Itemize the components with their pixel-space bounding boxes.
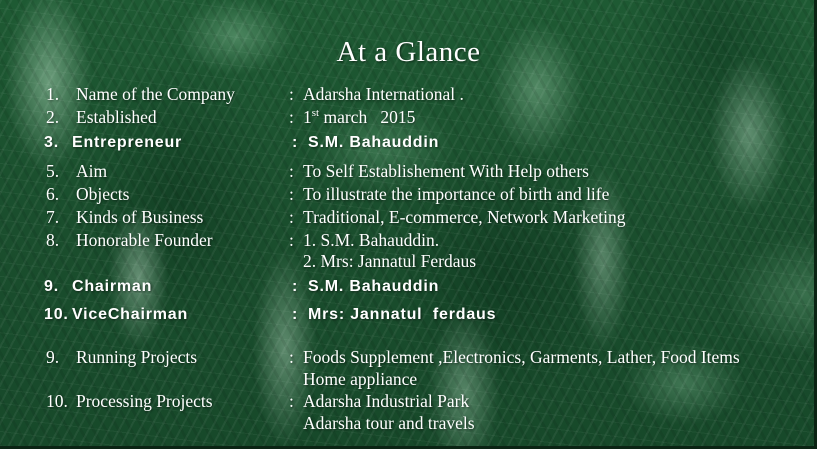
row-value-continuation: 2. Mrs: Jannatul Ferdaus (303, 251, 476, 272)
row-label: Entrepreneur (72, 134, 182, 152)
row-label: Running Projects (76, 347, 197, 368)
row-value-continuation: Home appliance (303, 369, 417, 390)
row-separator: : (289, 391, 294, 412)
row-value: To Self Establishement With Help others (303, 161, 589, 182)
row-separator: : (292, 306, 298, 324)
row-separator: : (292, 278, 298, 296)
row-number: 10. (46, 391, 80, 412)
row-value: Traditional, E-commerce, Network Marketi… (303, 207, 626, 228)
row-number: 7. (46, 207, 80, 228)
slide-content: At a Glance 1. Name of the Company : Ada… (0, 0, 814, 446)
row-number: 5. (46, 161, 80, 182)
row-number: 9. (46, 347, 80, 368)
row-separator: : (289, 184, 294, 205)
row-label: Kinds of Business (76, 207, 203, 228)
row-value: S.M. Bahauddin (308, 278, 439, 296)
row-label: Honorable Founder (76, 230, 213, 251)
row-separator: : (289, 161, 294, 182)
row-separator: : (289, 84, 294, 105)
row-label: Name of the Company (76, 84, 235, 105)
row-value: Foods Supplement ,Electronics, Garments,… (303, 347, 740, 368)
row-separator: : (289, 107, 294, 128)
row-separator: : (289, 207, 294, 228)
row-value: S.M. Bahauddin (308, 134, 439, 152)
row-number: 6. (46, 184, 80, 205)
row-number: 1. (46, 84, 80, 105)
row-number: 8. (46, 230, 80, 251)
date-day: 1 (303, 107, 312, 127)
row-value-continuation: Adarsha tour and travels (303, 413, 475, 434)
row-separator: : (292, 134, 298, 152)
row-separator: : (289, 347, 294, 368)
row-label: Aim (76, 161, 107, 182)
row-value: To illustrate the importance of birth an… (303, 184, 609, 205)
row-value: 1st march 2015 (303, 107, 415, 128)
row-separator: : (289, 230, 294, 251)
row-value: Adarsha Industrial Park (303, 391, 469, 412)
row-value: 1. S.M. Bahauddin. (303, 230, 439, 251)
row-label: Chairman (72, 278, 152, 296)
row-label: ViceChairman (72, 306, 188, 324)
row-label: Objects (76, 184, 129, 205)
row-label: Processing Projects (76, 391, 213, 412)
row-number: 2. (46, 107, 80, 128)
date-rest: march 2015 (319, 107, 415, 127)
date-ordinal-suffix: st (312, 107, 319, 119)
row-label: Established (76, 107, 157, 128)
row-value: Adarsha International . (303, 84, 464, 105)
slide-title: At a Glance (0, 36, 817, 69)
row-value: Mrs: Jannatul ferdaus (308, 306, 496, 324)
presentation-slide: At a Glance 1. Name of the Company : Ada… (0, 0, 817, 449)
